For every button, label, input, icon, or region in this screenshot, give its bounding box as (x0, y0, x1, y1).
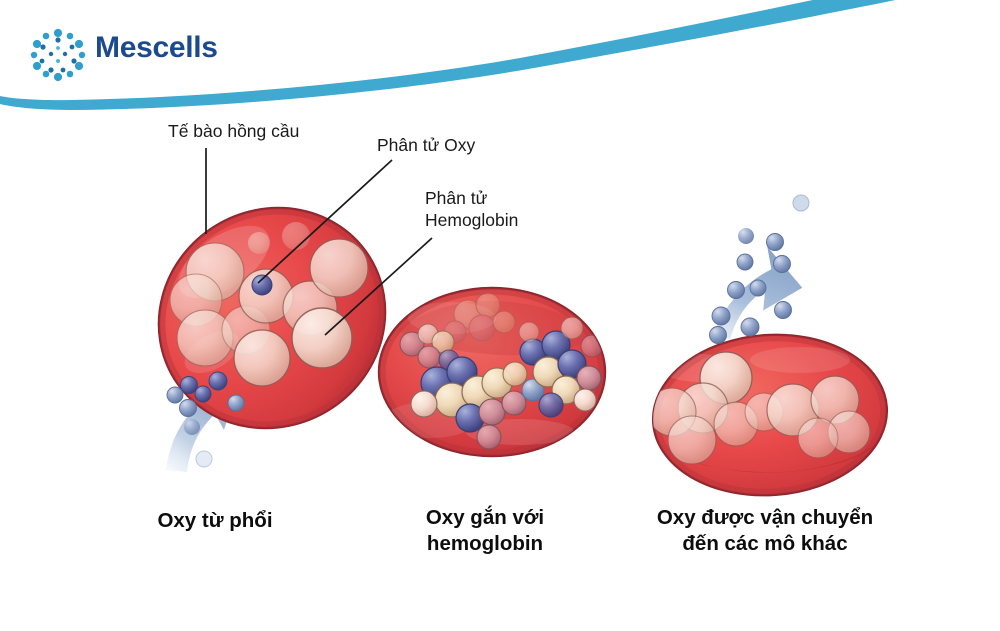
cell-1-group (117, 165, 427, 472)
callout-label-hemoglobin-molecule: Phân tử Hemoglobin (425, 187, 518, 231)
cell-3-released-oxygen (710, 195, 810, 344)
callout-label-oxygen-molecule: Phân tử Oxy (377, 134, 475, 156)
cell-2-group (379, 288, 605, 456)
oxygen-molecule (252, 275, 272, 295)
caption-step-1: Oxy từ phổi (70, 508, 360, 534)
callout-label-red-blood-cell: Tế bào hồng cầu (168, 120, 299, 142)
illustration-canvas: Mescells (0, 0, 1000, 631)
caption-step-3: Oxy được vận chuyển đến các mô khác (605, 505, 925, 557)
caption-step-2: Oxy gắn với hemoglobin (355, 505, 615, 557)
cell-3-group (648, 195, 893, 503)
